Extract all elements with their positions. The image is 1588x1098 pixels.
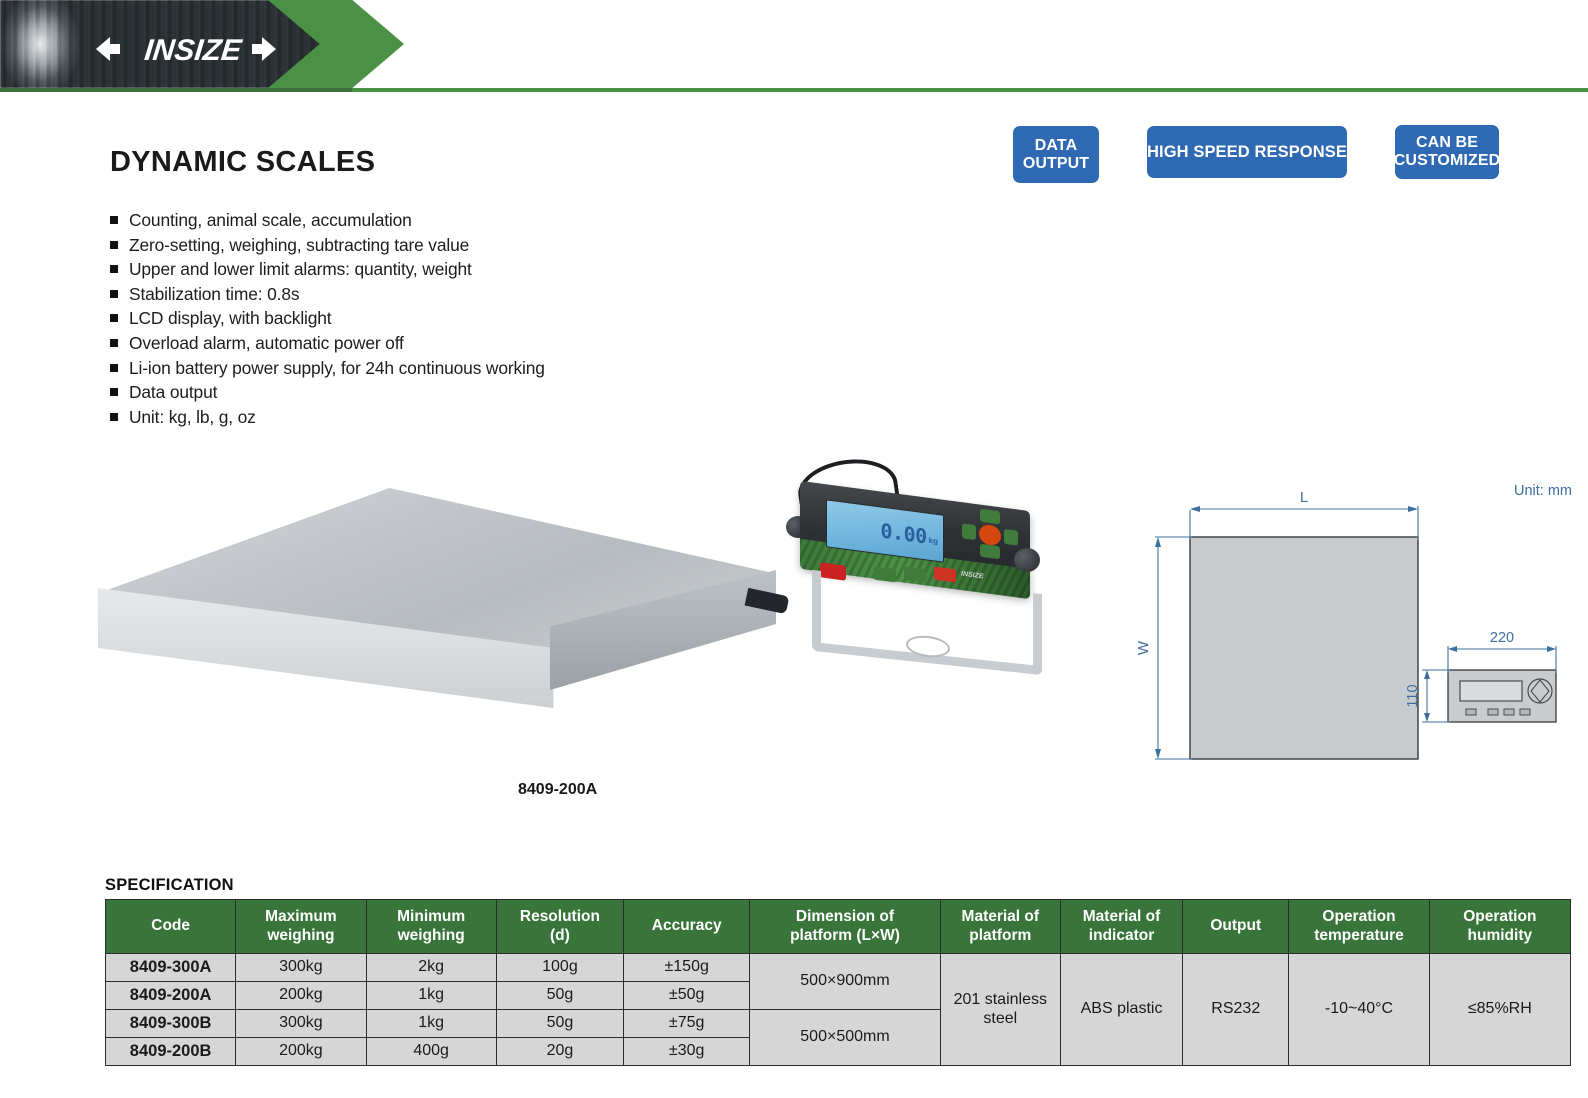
col-header-min-line1: Minimum: [397, 908, 465, 925]
cell-min-weighing: 2kg: [366, 954, 496, 982]
col-header-output-line1: Output: [1210, 917, 1261, 934]
cell-max-weighing: 300kg: [236, 1010, 366, 1038]
specification-section-label: SPECIFICATION: [105, 876, 234, 895]
col-header-dim-line1: Dimension of: [796, 908, 894, 925]
feature-item: Upper and lower limit alarms: quantity, …: [110, 257, 750, 282]
lcd-weight-value: 0.00: [880, 518, 926, 548]
badge-high-speed-response-label: HIGH SPEED RESPONSE: [1147, 143, 1347, 161]
badge-data-output-line1: DATA: [1035, 137, 1077, 154]
cell-resolution: 100g: [496, 954, 623, 982]
col-header-matind-line1: Material of: [1083, 908, 1161, 925]
cell-operation-temperature: -10~40°C: [1289, 954, 1429, 1066]
indicator-right-knob: [1014, 548, 1040, 572]
feature-item: Counting, animal scale, accumulation: [110, 208, 750, 233]
feature-text: Stabilization time: 0.8s: [129, 282, 299, 307]
col-header-accuracy-line1: Accuracy: [652, 917, 722, 934]
page-title: DYNAMIC SCALES: [110, 146, 375, 179]
feature-item: Li-ion battery power supply, for 24h con…: [110, 356, 750, 381]
feature-text: Upper and lower limit alarms: quantity, …: [129, 257, 472, 282]
square-bullet-icon: [110, 339, 118, 347]
col-header-hum-line2: humidity: [1468, 927, 1533, 944]
feature-text: LCD display, with backlight: [129, 306, 331, 331]
cell-min-weighing: 1kg: [366, 982, 496, 1010]
indicator-key-outline: [1504, 709, 1514, 715]
dim110-arrow-top: [1424, 670, 1430, 679]
col-header-min-line2: weighing: [398, 927, 465, 944]
cell-code: 8409-300A: [106, 954, 236, 982]
square-bullet-icon: [110, 241, 118, 249]
feature-text: Li-ion battery power supply, for 24h con…: [129, 356, 545, 381]
dimension-drawing: Unit: mm L W: [1110, 470, 1580, 770]
square-bullet-icon: [110, 388, 118, 396]
insize-logo: INSIZE: [96, 31, 276, 67]
dim-label-110: 110: [1405, 684, 1421, 707]
table-row: 8409-300A 300kg 2kg 100g ±150g 500×900mm…: [106, 954, 1571, 982]
cell-accuracy: ±30g: [624, 1038, 750, 1066]
l-arrow-right: [1408, 506, 1418, 512]
indicator-keypad: [962, 506, 1018, 563]
col-header-res-line2: (d): [550, 927, 570, 944]
col-header-dim-line2: platform (L×W): [790, 927, 900, 944]
cell-code: 8409-200A: [106, 982, 236, 1010]
col-header-operation-humidity: Operation humidity: [1429, 900, 1570, 954]
col-header-temp-line1: Operation: [1322, 908, 1395, 925]
col-header-code-line1: Code: [151, 917, 190, 934]
col-header-code: Code: [106, 900, 236, 954]
feature-item: LCD display, with backlight: [110, 306, 750, 331]
keypad-left-button: [962, 523, 976, 540]
cell-accuracy: ±50g: [624, 982, 750, 1010]
dim-label-length: L: [1300, 489, 1308, 506]
feature-text: Overload alarm, automatic power off: [129, 331, 404, 356]
cell-material-indicator: ABS plastic: [1060, 954, 1182, 1066]
w-arrow-top: [1155, 537, 1161, 547]
indicator-key-outline: [1520, 709, 1530, 715]
square-bullet-icon: [110, 216, 118, 224]
insize-logo-text: INSIZE: [143, 34, 244, 67]
scale-platform-photo: [98, 488, 768, 738]
specification-table: Code Maximum weighing Minimum weighing R…: [105, 899, 1571, 1066]
col-header-material-of-platform: Material of platform: [940, 900, 1060, 954]
col-header-resolution: Resolution (d): [496, 900, 623, 954]
col-header-dimension-of-platform: Dimension of platform (L×W): [750, 900, 940, 954]
col-header-operation-temperature: Operation temperature: [1289, 900, 1429, 954]
badge-can-be-customized-line2: CUSTOMIZED: [1394, 152, 1500, 169]
cell-max-weighing: 200kg: [236, 1038, 366, 1066]
square-bullet-icon: [110, 265, 118, 273]
cell-output: RS232: [1183, 954, 1289, 1066]
col-header-material-of-indicator: Material of indicator: [1060, 900, 1182, 954]
unit-note-label: Unit: mm: [1514, 483, 1572, 499]
table-header-row: Code Maximum weighing Minimum weighing R…: [106, 900, 1571, 954]
col-header-minimum-weighing: Minimum weighing: [366, 900, 496, 954]
col-header-matplat-line2: platform: [969, 927, 1031, 944]
indicator-key-outline: [1488, 709, 1498, 715]
feature-text: Counting, animal scale, accumulation: [129, 208, 412, 233]
col-header-max-line2: weighing: [267, 927, 334, 944]
w-arrow-bottom: [1155, 749, 1161, 759]
product-model-label: 8409-200A: [518, 781, 597, 799]
square-bullet-icon: [110, 413, 118, 421]
square-bullet-icon: [110, 364, 118, 372]
keypad-down-button: [980, 544, 1000, 560]
platform-top-view-rect: [1190, 537, 1418, 759]
dim110-arrow-bottom: [1424, 713, 1430, 722]
feature-item: Stabilization time: 0.8s: [110, 282, 750, 307]
cell-resolution: 20g: [496, 1038, 623, 1066]
col-header-maximum-weighing: Maximum weighing: [236, 900, 366, 954]
badge-data-output: DATA OUTPUT: [1013, 126, 1099, 183]
badge-can-be-customized-line1: CAN BE: [1416, 134, 1478, 151]
feature-list: Counting, animal scale, accumulation Zer…: [110, 208, 750, 429]
cell-accuracy: ±150g: [624, 954, 750, 982]
col-header-temp-line2: temperature: [1314, 927, 1404, 944]
cell-min-weighing: 1kg: [366, 1010, 496, 1038]
feature-text: Data output: [129, 380, 217, 405]
square-bullet-icon: [110, 314, 118, 322]
badge-data-output-line2: OUTPUT: [1023, 155, 1089, 172]
cell-max-weighing: 200kg: [236, 982, 366, 1010]
cell-dimension-platform: 500×900mm: [750, 954, 940, 1010]
l-arrow-left: [1190, 506, 1200, 512]
weighing-indicator-photo: 0.00 kg INSIZE: [776, 460, 1044, 660]
dim-label-220: 220: [1490, 630, 1514, 646]
feature-item: Data output: [110, 380, 750, 405]
badge-high-speed-response: HIGH SPEED RESPONSE: [1147, 126, 1347, 178]
cell-resolution: 50g: [496, 982, 623, 1010]
dim220-arrow-right: [1547, 646, 1556, 652]
cell-operation-humidity: ≤85%RH: [1429, 954, 1570, 1066]
cell-resolution: 50g: [496, 1010, 623, 1038]
col-header-hum-line1: Operation: [1463, 908, 1536, 925]
function-key-3: [934, 567, 956, 583]
square-bullet-icon: [110, 290, 118, 298]
feature-item: Zero-setting, weighing, subtracting tare…: [110, 233, 750, 258]
col-header-res-line1: Resolution: [520, 908, 600, 925]
cell-min-weighing: 400g: [366, 1038, 496, 1066]
cell-accuracy: ±75g: [624, 1010, 750, 1038]
feature-text: Unit: kg, lb, g, oz: [129, 405, 256, 430]
keypad-right-button: [1004, 529, 1018, 546]
cell-code: 8409-300B: [106, 1010, 236, 1038]
col-header-matplat-line1: Material of: [962, 908, 1040, 925]
indicator-key-outline: [1466, 709, 1476, 715]
cell-max-weighing: 300kg: [236, 954, 366, 982]
indicator-screen-outline: [1460, 681, 1522, 701]
keypad-up-button: [980, 509, 1000, 525]
banner-bottom-rule-dark: [0, 88, 352, 92]
dim-label-width: W: [1135, 640, 1152, 655]
col-header-output: Output: [1183, 900, 1289, 954]
product-photo: 0.00 kg INSIZE: [88, 432, 1068, 762]
feature-item: Unit: kg, lb, g, oz: [110, 405, 750, 430]
cell-code: 8409-200B: [106, 1038, 236, 1066]
col-header-accuracy: Accuracy: [624, 900, 750, 954]
cell-material-platform: 201 stainless steel: [940, 954, 1060, 1066]
page-header-banner: INSIZE: [0, 0, 1588, 92]
feature-text: Zero-setting, weighing, subtracting tare…: [129, 233, 469, 258]
dimension-drawing-svg: L W 220: [1110, 470, 1580, 770]
cell-dimension-platform: 500×500mm: [750, 1010, 940, 1066]
feature-item: Overload alarm, automatic power off: [110, 331, 750, 356]
col-header-max-line1: Maximum: [265, 908, 337, 925]
badge-can-be-customized: CAN BE CUSTOMIZED: [1395, 125, 1499, 179]
dim220-arrow-left: [1448, 646, 1457, 652]
col-header-matind-line2: indicator: [1089, 927, 1154, 944]
lcd-unit-label: kg: [929, 536, 938, 546]
